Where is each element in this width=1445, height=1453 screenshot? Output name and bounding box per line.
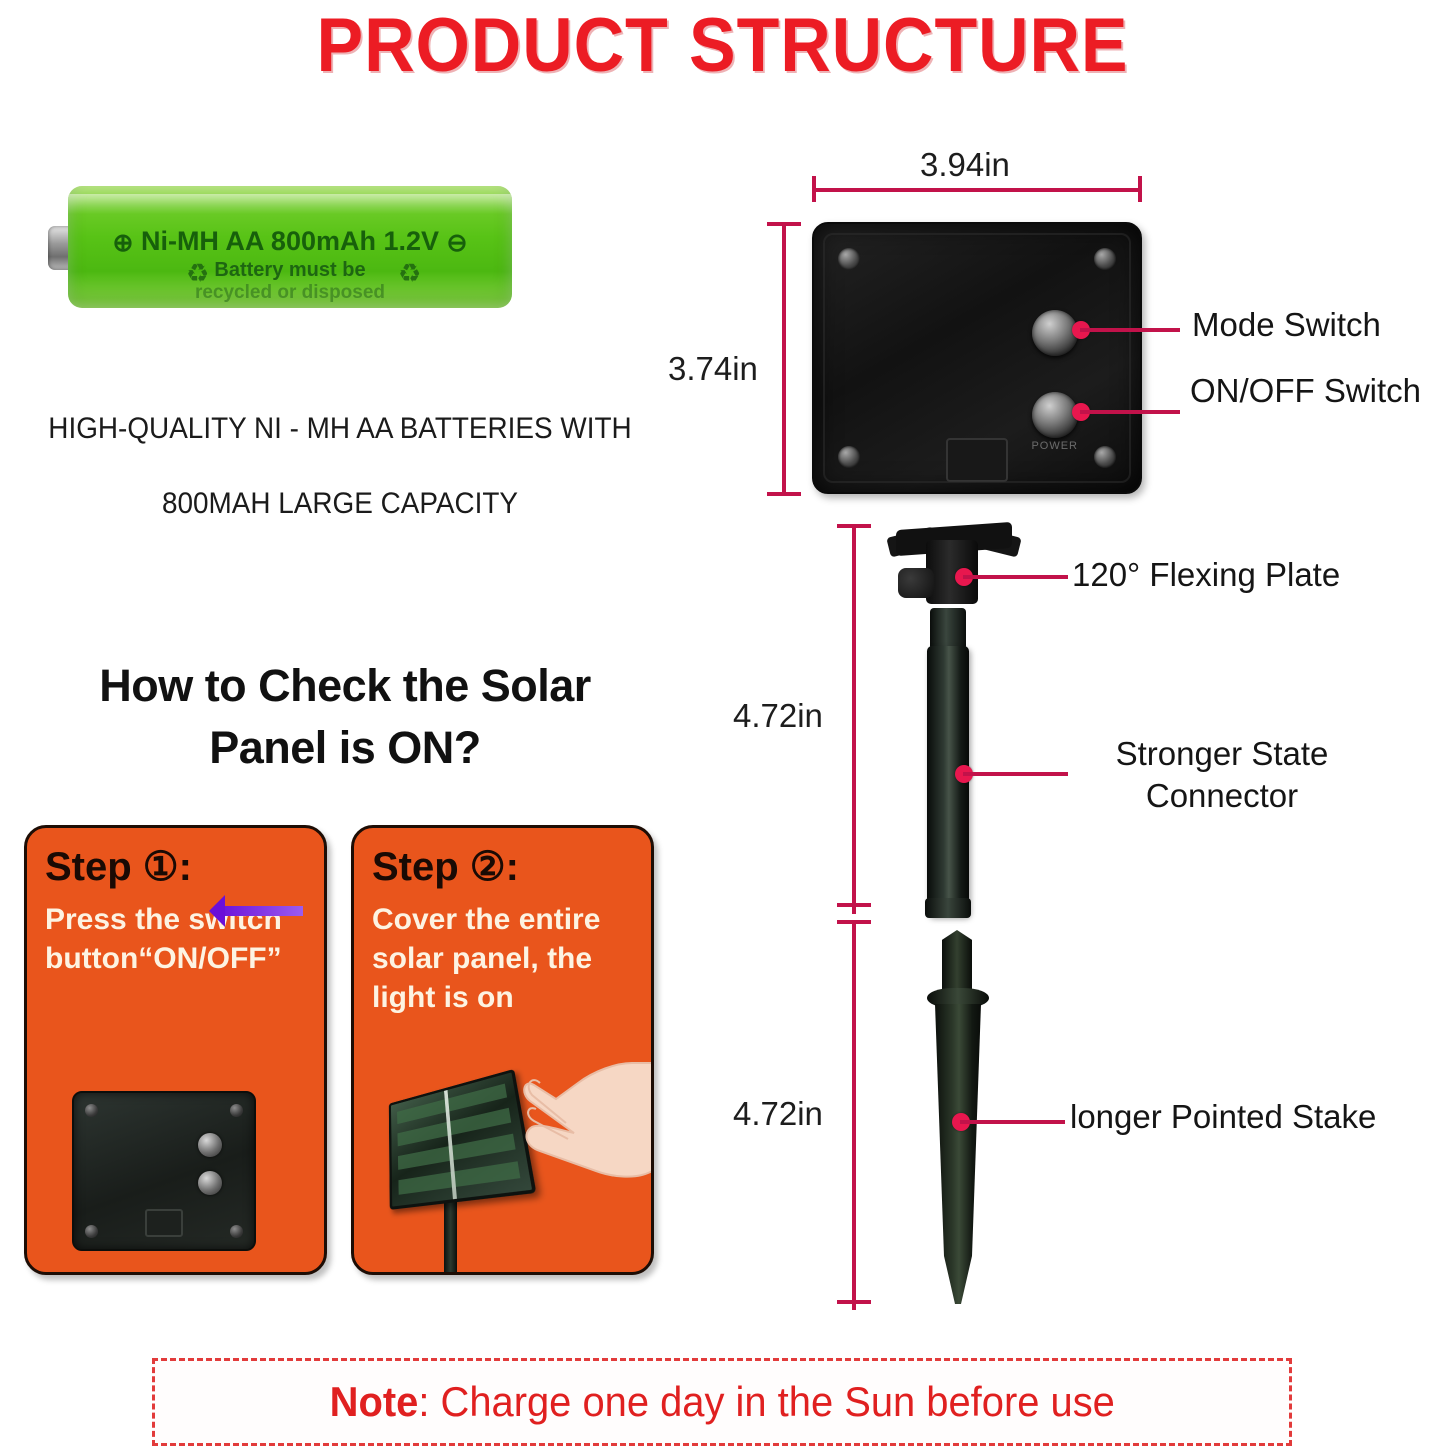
dimension-cap (767, 492, 801, 496)
callout-label-stake: longer Pointed Stake (1070, 1098, 1376, 1136)
howto-heading: How to Check the Solar Panel is ON? (0, 655, 690, 779)
step-1-battery-hatch (145, 1209, 183, 1237)
flexing-plate-knob (898, 568, 934, 598)
step-2-body: Cover the entire solar panel, the light … (372, 900, 647, 1017)
dimension-connector-line (852, 524, 856, 914)
step-2-card: Step ②: Cover the entire solar panel, th… (351, 825, 654, 1275)
purple-arrow-icon (217, 906, 303, 916)
dimension-cap (1138, 176, 1142, 202)
dimension-cap (837, 1300, 871, 1304)
note-rest-label: : Charge one day in the Sun before use (418, 1378, 1115, 1425)
dimension-stake-line (852, 920, 856, 1310)
mode-switch-button (1032, 310, 1078, 356)
dimension-cap (837, 903, 871, 907)
dimension-cap (837, 524, 871, 528)
battery-body: ⊕ Ni-MH AA 800mAh 1.2V ⊖ ♻ ♻ Battery mus… (68, 186, 512, 308)
battery-spec-text: ⊕ Ni-MH AA 800mAh 1.2V ⊖ (68, 226, 512, 258)
callout-line-mode-switch (1080, 328, 1180, 332)
screw-icon (838, 446, 860, 468)
note-bold-label: Note (329, 1378, 418, 1425)
dimension-cap (767, 222, 801, 226)
connector-tube-top (930, 608, 966, 650)
callout-line-connector (963, 772, 1068, 776)
dimension-height-line (782, 222, 786, 496)
stake-head (942, 930, 972, 992)
screw-icon (1094, 248, 1116, 270)
callout-label-flexing-plate: 120° Flexing Plate (1072, 556, 1340, 594)
solar-panel-face (389, 1069, 537, 1210)
screw-icon (230, 1104, 243, 1117)
battery-disposal-line1: Battery must be (68, 259, 512, 282)
page-title: PRODUCT STRUCTURE (58, 2, 1387, 89)
onoff-switch-button (1032, 392, 1078, 438)
howto-heading-line1: How to Check the Solar (0, 655, 690, 717)
screw-icon (85, 1104, 98, 1117)
battery-disposal-line2: recycled or disposed (68, 282, 512, 304)
battery-illustration: ⊕ Ni-MH AA 800mAh 1.2V ⊖ ♻ ♻ Battery mus… (42, 186, 512, 308)
dimension-width-line (812, 188, 1142, 192)
callout-label-connector: Stronger State Connector (1072, 733, 1372, 817)
power-label: POWER (1031, 440, 1078, 452)
battery-caption-line1: HIGH-QUALITY NI - MH AA BATTERIES WITH (24, 412, 656, 446)
howto-heading-line2: Panel is ON? (0, 717, 690, 779)
step-1-panel-photo (72, 1091, 256, 1251)
callout-line-onoff-switch (1080, 410, 1180, 414)
callout-label-onoff-switch: ON/OFF Switch (1190, 372, 1421, 410)
battery-caption-line2: 800MAH LARGE CAPACITY (24, 487, 656, 521)
dimension-height-label: 3.74in (668, 350, 758, 388)
step-1-power-button (198, 1171, 222, 1195)
infographic-root: PRODUCT STRUCTURE ⊕ Ni-MH AA 800mAh 1.2V… (0, 0, 1445, 1453)
connector-tube-foot (925, 898, 971, 918)
dimension-width-label: 3.94in (920, 146, 1010, 184)
flexing-plate (890, 520, 1018, 615)
panel-battery-hatch (946, 438, 1008, 482)
callout-label-mode-switch: Mode Switch (1192, 306, 1381, 344)
screw-icon (1094, 446, 1116, 468)
dimension-cap (812, 176, 816, 202)
minus-icon: ⊖ (447, 228, 468, 258)
longer-pointed-stake (933, 1004, 983, 1304)
plus-icon: ⊕ (112, 228, 133, 258)
callout-line-flexing-plate (963, 575, 1068, 579)
callout-line-stake (960, 1120, 1065, 1124)
step-1-header: Step ①: (45, 844, 192, 890)
note-text: Note: Charge one day in the Sun before u… (329, 1378, 1114, 1426)
step-1-card: Step ①: Press the switch button“ON/OFF” (24, 825, 327, 1275)
hand-icon (516, 1049, 654, 1209)
screw-icon (230, 1225, 243, 1238)
screw-icon (85, 1225, 98, 1238)
note-banner: Note: Charge one day in the Sun before u… (152, 1358, 1292, 1446)
step-2-header: Step ②: (372, 844, 519, 890)
battery-spec-label: Ni-MH AA 800mAh 1.2V (141, 226, 439, 256)
step-1-mode-button (198, 1133, 222, 1157)
dimension-cap (837, 920, 871, 924)
solar-panel-pole (444, 1195, 457, 1275)
solar-panel-back: POWER (812, 222, 1142, 494)
step-2-illustration (366, 1043, 654, 1275)
dimension-connector-label: 4.72in (733, 697, 823, 735)
dimension-stake-label: 4.72in (733, 1095, 823, 1133)
screw-icon (838, 248, 860, 270)
